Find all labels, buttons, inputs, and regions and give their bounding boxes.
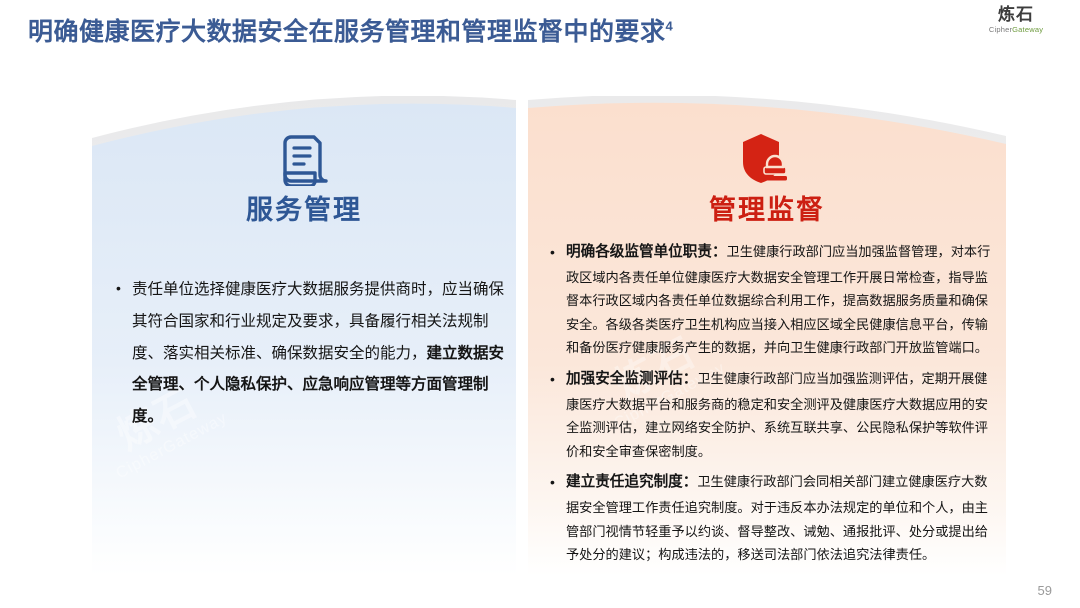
brand-name-en-cipher: Cipher [989,25,1012,34]
panel-right-bullet-list: 明确各级监管单位职责：卫生健康行政部门应当加强监督管理，对本行政区域内各责任单位… [548,240,1000,574]
document-scroll-icon [92,132,516,186]
page-number: 59 [1038,583,1052,598]
page-title-text: 明确健康医疗大数据安全在服务管理和管理监督中的要求 [28,18,666,46]
panel-service-management: 炼石 CipherGateway 服务管理 责任单位选择健康医疗大数据服务提供商… [92,96,516,576]
panel-left-heading: 服务管理 [92,188,516,227]
bullet-lead: 加强安全监测评估： [566,371,697,387]
page-title: 明确健康医疗大数据安全在服务管理和管理监督中的要求4 [28,12,673,48]
brand-name-cn: 炼石 [970,6,1062,23]
list-item: 责任单位选择健康医疗大数据服务提供商时，应当确保其符合国家和行业规定及要求，具备… [114,274,506,433]
shield-stamp-icon [528,132,1006,186]
bullet-body: 卫生健康行政部门应当加强监督管理，对本行政区域内各责任单位健康医疗大数据安全管理… [566,244,990,355]
brand-name-en-gateway: Gateway [1012,25,1043,34]
panel-right-heading: 管理监督 [528,188,1006,227]
brand-name-en: CipherGateway [970,26,1062,34]
list-item: 加强安全监测评估：卫生健康行政部门应当加强监测评估，定期开展健康医疗大数据平台和… [548,367,1000,463]
panels-container: 炼石 CipherGateway 服务管理 责任单位选择健康医疗大数据服务提供商… [0,96,1080,596]
bullet-lead: 明确各级监管单位职责： [566,244,727,260]
brand-logo: 炼石 CipherGateway [970,6,1062,34]
list-item: 建立责任追究制度：卫生健康行政部门会同相关部门建立健康医疗大数据安全管理工作责任… [548,470,1000,566]
list-item: 明确各级监管单位职责：卫生健康行政部门应当加强监督管理，对本行政区域内各责任单位… [548,240,1000,360]
page-title-superscript: 4 [666,19,674,34]
bullet-lead: 建立责任追究制度： [566,474,697,490]
panel-management-supervision: 炼石 CipherGateway 管理监督 明确各级监管单位职责：卫生健康行政部… [528,96,1006,576]
panel-left-bullet-list: 责任单位选择健康医疗大数据服务提供商时，应当确保其符合国家和行业规定及要求，具备… [114,274,506,433]
